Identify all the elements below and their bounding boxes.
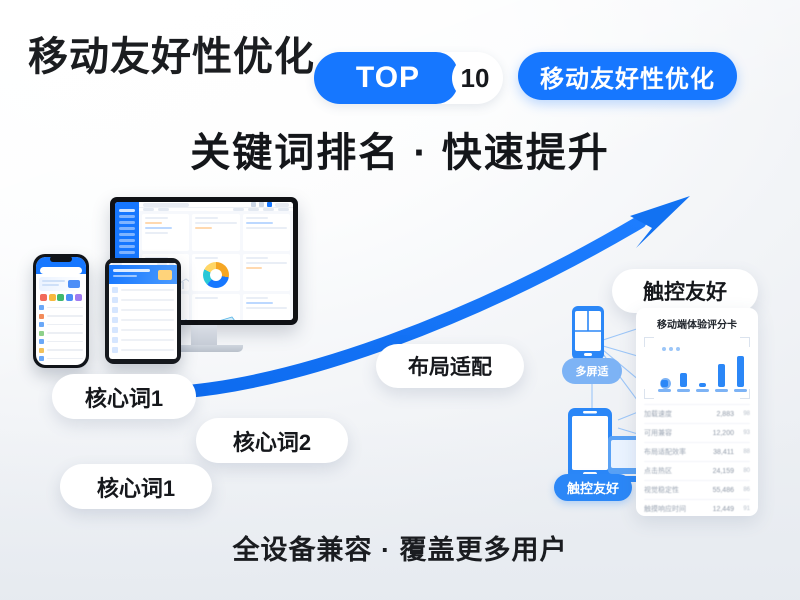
quick-icon-5[interactable] (75, 294, 82, 301)
keyword-pill-2[interactable]: 核心词2 (196, 418, 348, 463)
row-value: 12,200 (708, 430, 734, 437)
list-item (112, 327, 174, 333)
widget-panel (243, 214, 290, 251)
row-name: 可用兼容 (644, 428, 708, 438)
row-delta: 93 (734, 430, 750, 436)
touch-friendly-diagram: 多屏适 触控友好 移动端体验评分卡 (540, 300, 790, 525)
row-delta: 91 (734, 506, 750, 512)
list-item (112, 347, 174, 353)
row-name: 视觉稳定性 (644, 485, 708, 495)
list-item (39, 365, 83, 366)
list-item (39, 339, 83, 344)
footer-tagline: 全设备兼容 · 覆盖更多用户 (0, 528, 800, 567)
keyword-pill-1[interactable]: 核心词1 (52, 374, 196, 419)
diagram-label-touch-friendly: 触控友好 (554, 474, 632, 501)
widget-area-chart-2 (192, 294, 239, 320)
row-value: 24,159 (708, 468, 734, 475)
row-name: 触摸响应时间 (644, 504, 708, 514)
list-item (112, 297, 174, 303)
row-delta: 80 (734, 468, 750, 474)
table-row: 加载速度 2,883 98 (644, 404, 750, 423)
quick-icon-2[interactable] (49, 294, 56, 301)
widget-kpi (243, 254, 290, 291)
diagram-label-multiscreen: 多屏适 (562, 358, 622, 384)
phone-quick-icons (36, 294, 86, 303)
promo-thumb-icon (68, 280, 80, 288)
row-value: 55,486 (708, 487, 734, 494)
poster-canvas: 移动友好性优化 TOP 10 移动友好性优化 关键词排名 · 快速提升 (0, 0, 800, 600)
table-row: 布局适配效率 38,411 88 (644, 442, 750, 461)
phone-mockup (33, 254, 89, 368)
list-item (39, 356, 83, 361)
row-value: 2,883 (708, 411, 734, 418)
list-item (39, 348, 83, 353)
score-card-rows: 加载速度 2,883 98 可用兼容 12,200 93 布局适配效率 38,4… (644, 404, 750, 516)
list-item (39, 331, 83, 336)
score-card-title: 移动端体验评分卡 (644, 316, 750, 331)
row-delta: 86 (734, 487, 750, 493)
device-mockups (0, 0, 360, 380)
phone-notch (50, 256, 72, 262)
table-row: 触摸响应时间 12,449 91 (644, 499, 750, 516)
monitor-stand-neck (191, 325, 217, 345)
widget-summary (192, 214, 239, 251)
quick-icon-4[interactable] (66, 294, 73, 301)
callout-layout-adaptation[interactable]: 布局适配 (376, 344, 524, 388)
row-name: 加载速度 (644, 409, 708, 419)
row-name: 点击热区 (644, 466, 708, 476)
row-name: 布局适配效率 (644, 447, 708, 457)
chart-bars (658, 342, 736, 392)
keyword-pill-3[interactable]: 核心词1 (60, 464, 212, 509)
tablet-hero-thumb (158, 270, 172, 280)
quick-icon-1[interactable] (40, 294, 47, 301)
list-item (39, 314, 83, 319)
table-row: 点击热区 24,159 80 (644, 461, 750, 480)
tablet-hero-banner (109, 265, 177, 284)
list-item (112, 317, 174, 323)
mobile-score-card: 移动端体验评分卡 加载速度 2,883 (636, 308, 758, 516)
score-card-chart (644, 337, 750, 399)
row-value: 38,411 (708, 449, 734, 456)
list-item (112, 307, 174, 313)
list-item (112, 287, 174, 293)
tablet-result-list (109, 284, 177, 359)
tablet-mockup (105, 258, 181, 364)
list-item (39, 322, 83, 327)
search-input[interactable] (40, 267, 82, 274)
row-delta: 98 (734, 411, 750, 417)
list-item (112, 337, 174, 343)
row-value: 12,449 (708, 506, 734, 513)
phone-promo-card (39, 277, 83, 291)
crop-corner-bl-icon (644, 389, 654, 399)
phone-result-list (36, 303, 86, 365)
crop-corner-tl-icon (644, 337, 654, 347)
diagram-phone-small (572, 306, 604, 360)
widget-filters (142, 214, 189, 251)
widget-donut-chart (192, 254, 239, 291)
widget-misc (243, 294, 290, 320)
row-delta: 88 (734, 449, 750, 455)
donut-chart (203, 262, 229, 288)
list-item (39, 305, 83, 310)
table-row: 视觉稳定性 55,486 86 (644, 480, 750, 499)
quick-icon-3[interactable] (57, 294, 64, 301)
diagram-phone-large (568, 408, 612, 480)
table-row: 可用兼容 12,200 93 (644, 423, 750, 442)
